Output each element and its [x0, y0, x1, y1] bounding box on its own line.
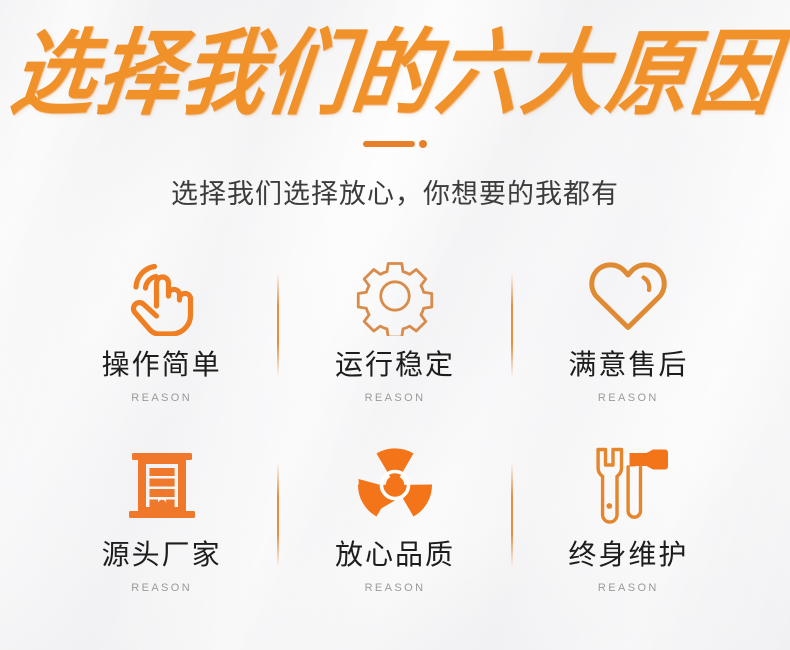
tap-hand-icon — [123, 255, 201, 337]
reason-sublabel: REASON — [131, 582, 192, 594]
page-title: 选择我们的六大原因 — [0, 25, 790, 124]
reason-item-3[interactable]: 满意售后 REASON — [512, 249, 745, 439]
gear-icon — [355, 255, 435, 337]
reason-sublabel: REASON — [598, 582, 659, 594]
reason-label: 源头厂家 — [102, 541, 222, 569]
reason-label: 操作简单 — [102, 351, 222, 379]
radiation-icon — [354, 445, 436, 527]
reason-label: 运行稳定 — [335, 351, 455, 379]
heart-icon — [585, 255, 671, 337]
page-subtitle: 选择我们选择放心，你想要的我都有 — [0, 172, 790, 211]
reason-item-2[interactable]: 运行稳定 REASON — [278, 249, 511, 439]
reason-sublabel: REASON — [365, 582, 426, 594]
reason-item-4[interactable]: 源头厂家 REASON — [45, 439, 278, 629]
promo-banner: 选择我们的六大原因 选择我们选择放心，你想要的我都有 — [0, 0, 790, 650]
reasons-grid: 操作简单 REASON 运行稳定 REASON — [45, 249, 745, 629]
reason-item-1[interactable]: 操作简单 REASON — [45, 249, 278, 439]
tools-icon — [585, 445, 671, 527]
divider-dot-icon — [419, 140, 427, 148]
reason-sublabel: REASON — [598, 392, 659, 404]
reason-label: 满意售后 — [568, 351, 688, 379]
reason-label: 终身维护 — [568, 541, 688, 569]
reason-label: 放心品质 — [335, 541, 455, 569]
reason-item-6[interactable]: 终身维护 REASON — [512, 439, 745, 629]
header: 选择我们的六大原因 选择我们选择放心，你想要的我都有 — [0, 0, 790, 211]
reason-sublabel: REASON — [131, 392, 192, 404]
title-divider — [0, 138, 790, 150]
reason-item-5[interactable]: 放心品质 REASON — [278, 439, 511, 629]
reason-sublabel: REASON — [365, 392, 426, 404]
divider-bar-icon — [363, 141, 415, 147]
factory-icon — [124, 445, 200, 527]
